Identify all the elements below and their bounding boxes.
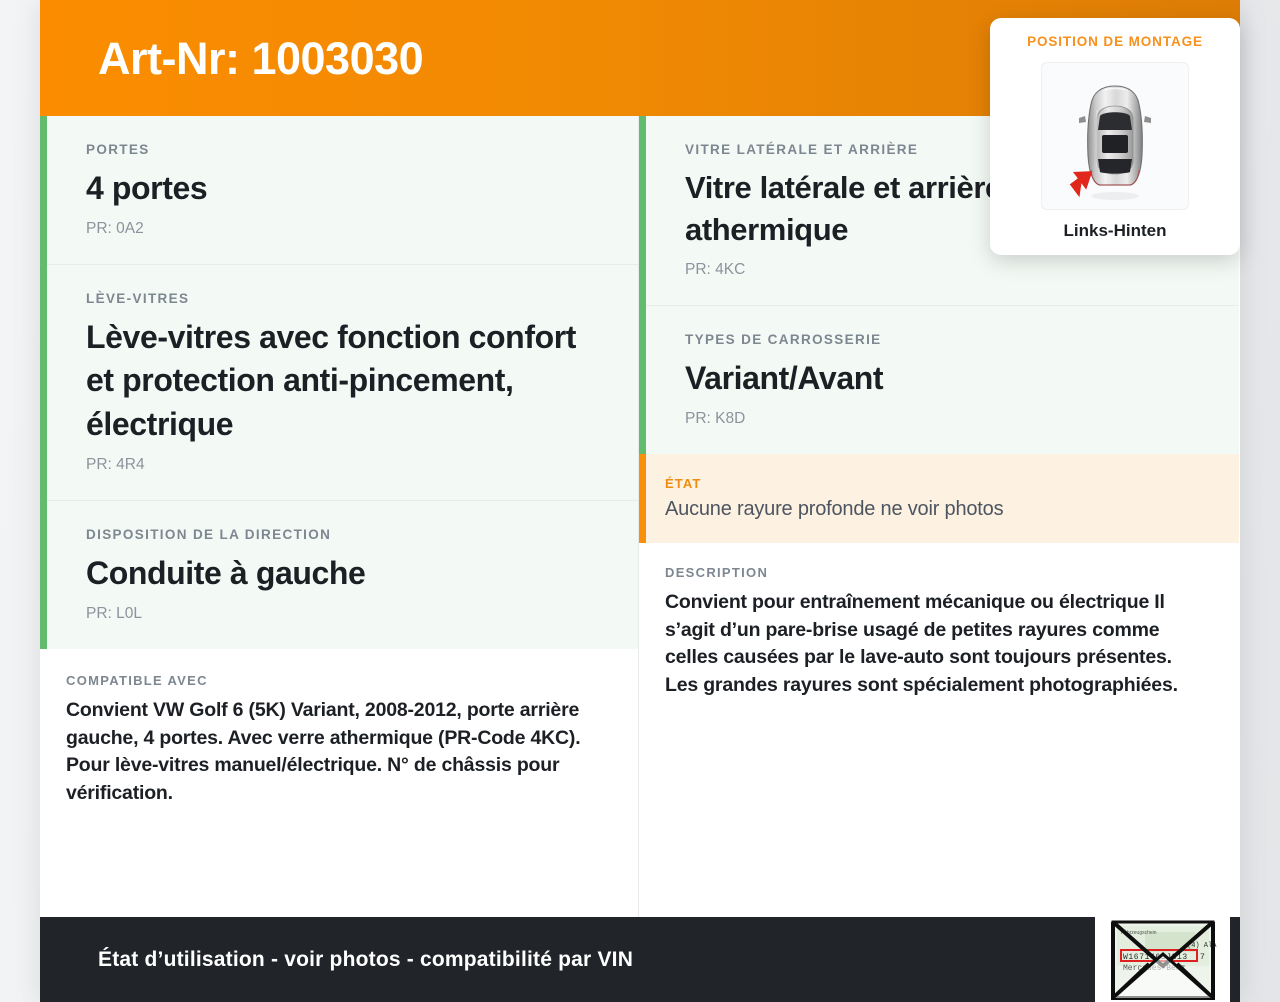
spec-pr-code: PR: 4KC [685, 261, 1193, 279]
page-root: Art-Nr: 1003030 Portes 4 portes PR: 0A2 … [0, 0, 1280, 1002]
spec-pr-code: PR: L0L [86, 605, 592, 623]
spec-item-portes: Portes 4 portes PR: 0A2 [40, 116, 638, 265]
envelope-vin-document-svg: Fahrzeugschein (4) AlA W1671463J313 7 Me… [1099, 914, 1227, 1002]
compatible-with-text: Convient VW Golf 6 (5K) Variant, 2008-20… [66, 697, 592, 808]
spec-pr-code: PR: 0A2 [86, 220, 592, 238]
envelope-vin-document-icon: Fahrzeugschein (4) AlA W1671463J313 7 Me… [1095, 911, 1230, 1002]
spec-label: Portes [86, 142, 592, 157]
spec-pr-code: PR: 4R4 [86, 456, 592, 474]
spec-pr-code: PR: K8D [685, 410, 1193, 428]
mount-position-title: Position de montage [1006, 34, 1224, 49]
etat-text: Aucune rayure profonde ne voir photos [665, 498, 1199, 521]
description-label: Description [665, 565, 1209, 580]
spec-value: Variant/Avant [685, 357, 1193, 400]
car-top-view-icon [1045, 66, 1185, 206]
page-title: Art-Nr: 1003030 [98, 36, 423, 81]
left-column: Portes 4 portes PR: 0A2 Lève-vitres Lève… [40, 116, 639, 917]
etat-section: État Aucune rayure profonde ne voir phot… [639, 454, 1239, 543]
mount-position-caption: Links-Hinten [1006, 221, 1224, 241]
etat-label: État [665, 476, 1199, 491]
spec-label: Types de carrosserie [685, 332, 1193, 347]
compatible-with-section: Compatible avec Convient VW Golf 6 (5K) … [40, 649, 638, 917]
svg-text:7: 7 [1200, 953, 1205, 962]
spec-label: Disposition de la direction [86, 527, 592, 542]
mount-position-card[interactable]: Position de montage [990, 18, 1240, 255]
spec-value: 4 portes [86, 167, 592, 210]
compatible-with-label: Compatible avec [66, 673, 592, 688]
footer-text: État d’utilisation - voir photos - compa… [98, 948, 633, 972]
spec-label: Lève-vitres [86, 291, 592, 306]
description-text: Convient pour entraînement mécanique ou … [665, 589, 1209, 700]
description-section: Description Convient pour entraînement m… [639, 543, 1239, 917]
spec-item-carrosserie: Types de carrosserie Variant/Avant PR: K… [639, 306, 1239, 454]
spec-value: Conduite à gauche [86, 552, 592, 595]
left-spec-group: Portes 4 portes PR: 0A2 Lève-vitres Lève… [40, 116, 638, 649]
spec-item-leve-vitres: Lève-vitres Lève-vitres avec fonction co… [40, 265, 638, 501]
spec-item-direction: Disposition de la direction Conduite à g… [40, 501, 638, 649]
spec-value: Lève-vitres avec fonction confort et pro… [86, 316, 592, 446]
mount-position-image [1041, 62, 1189, 210]
card-footer: État d’utilisation - voir photos - compa… [40, 917, 1240, 1002]
